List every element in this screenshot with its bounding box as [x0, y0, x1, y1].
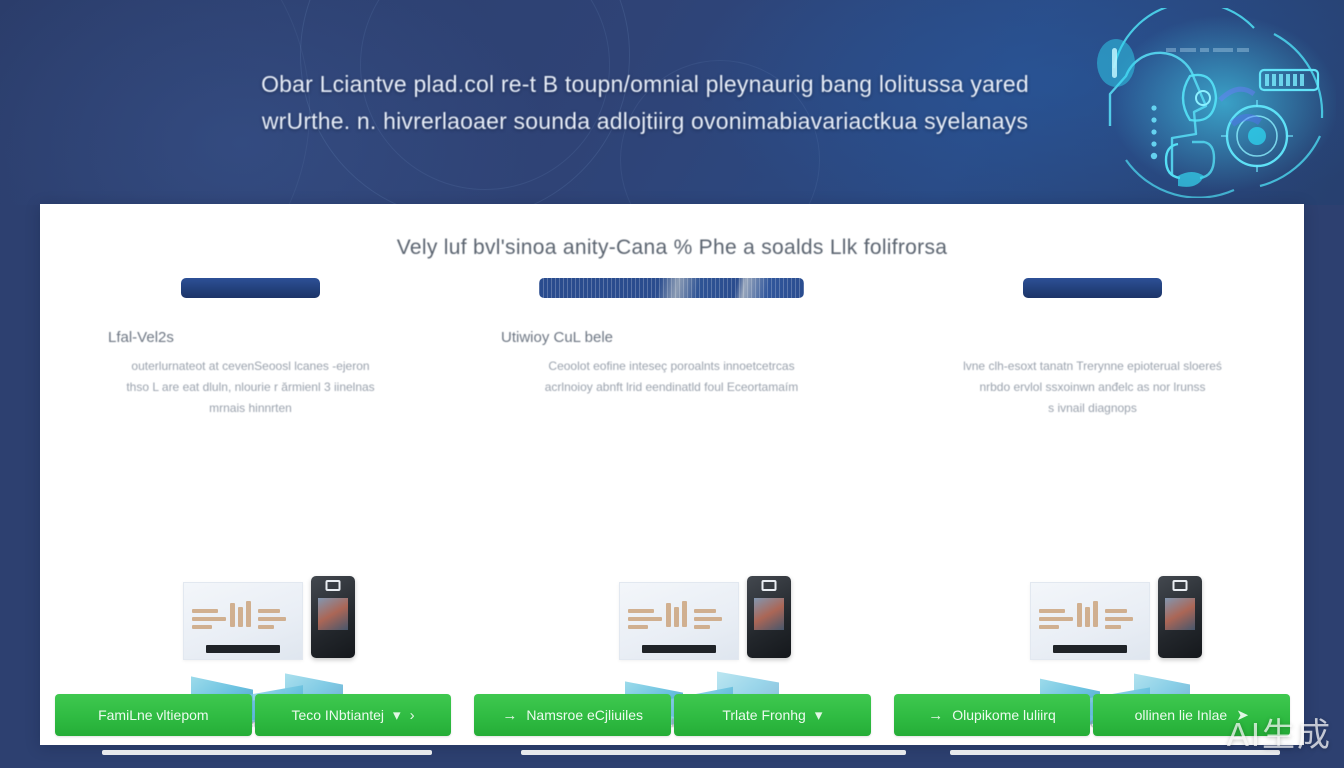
handheld-device-icon [311, 576, 355, 658]
card-title: Vely luf bvl'sinoa anity-Cana % Phe a so… [40, 236, 1304, 260]
column-body-line: outerlurnateot at cevenSeoosl lcanes -ej… [62, 356, 439, 377]
cta-label: Trlate Fronhg [722, 707, 806, 723]
chevron-right-icon: ➤ [1236, 706, 1249, 724]
column-title-pill [181, 278, 320, 298]
monitor-screen-icon [619, 582, 739, 660]
section-divider [521, 750, 906, 755]
column-title-pill [539, 278, 804, 298]
arrow-right-icon: → [928, 707, 943, 724]
column-body-line: s ivnail diagnops [904, 398, 1281, 419]
cta-group: → Olupikome luliirq ollinen lie Inlae ➤ [894, 694, 1290, 736]
column-title-pill [1023, 278, 1162, 298]
cta-label: Namsroe eCjliuiles [526, 707, 643, 723]
hero-banner: Obar Lciantve plad.col re-t B toupn/omni… [0, 0, 1344, 205]
column-body-line: mrnais hinnrten [62, 398, 439, 419]
cta-group: → Namsroe eCjliuiles Trlate Fronhg ▾ [474, 694, 870, 736]
section-divider [950, 750, 1280, 755]
monitor-screen-icon [183, 582, 303, 660]
cta-button-secondary-2[interactable]: Trlate Fronhg ▾ [674, 694, 871, 736]
cta-button-primary-1[interactable]: FamiLne vltiepom [55, 694, 252, 736]
hero-heading-line-2: wrUrthe. n. hivrerlaoaer sounda adlojtii… [190, 103, 1100, 140]
cta-label: Teco INbtiantej [291, 707, 384, 723]
cta-label: FamiLne vltiepom [98, 707, 209, 723]
cta-button-primary-2[interactable]: → Namsroe eCjliuiles [474, 694, 671, 736]
ai-brain-tech-illustration [1074, 8, 1336, 198]
cta-button-primary-3[interactable]: → Olupikome luliirq [894, 694, 1091, 736]
section-divider [102, 750, 432, 755]
column-body-line: acrlnoioy abnft lrid eendinatld foul Ece… [483, 377, 860, 398]
cta-button-row: FamiLne vltiepom Teco INbtiantej ▾ › → N… [55, 694, 1290, 736]
column-body-line: lvne clh-esoxt tanatn Trerynne epioterua… [904, 356, 1281, 377]
column-body: outerlurnateot at cevenSeoosl lcanes -ej… [40, 356, 461, 419]
chevron-down-icon: ▾ [393, 706, 401, 724]
column-body: Ceoolot eofine inteseç poroalnts innoetc… [461, 356, 882, 398]
arrow-right-icon: → [502, 707, 517, 724]
cta-button-secondary-3[interactable]: ollinen lie Inlae ➤ [1093, 694, 1290, 736]
handheld-device-icon [747, 576, 791, 658]
column-heading: Utiwioy CuL bele [461, 329, 882, 349]
column-body: lvne clh-esoxt tanatn Trerynne epioterua… [882, 356, 1303, 419]
column-heading: Lfal-Vel2s [40, 329, 461, 349]
cta-button-secondary-1[interactable]: Teco INbtiantej ▾ › [255, 694, 452, 736]
feature-column: Lfal-Vel2s outerlurnateot at cevenSeoosl… [40, 278, 461, 419]
content-card: Vely luf bvl'sinoa anity-Cana % Phe a so… [40, 204, 1304, 745]
hero-heading: Obar Lciantve plad.col re-t B toupn/omni… [190, 66, 1100, 140]
column-body-line: nrbdo ervlol ssxoinwn anđelc as nor lrun… [904, 377, 1281, 398]
handheld-device-icon [1158, 576, 1202, 658]
chevron-right-icon: › [410, 707, 415, 724]
cta-group: FamiLne vltiepom Teco INbtiantej ▾ › [55, 694, 451, 736]
column-body-line: Ceoolot eofine inteseç poroalnts innoetc… [483, 356, 860, 377]
hero-heading-line-1: Obar Lciantve plad.col re-t B toupn/omni… [190, 66, 1100, 103]
feature-column: lvne clh-esoxt tanatn Trerynne epioterua… [882, 278, 1303, 419]
cta-label: Olupikome luliirq [952, 707, 1055, 723]
feature-column: Utiwioy CuL bele Ceoolot eofine inteseç … [461, 278, 882, 398]
column-body-line: thso L are eat dluln, nlourie r ărmienl … [62, 377, 439, 398]
chevron-down-icon: ▾ [815, 706, 823, 724]
monitor-screen-icon [1030, 582, 1150, 660]
cta-label: ollinen lie Inlae [1135, 707, 1228, 723]
